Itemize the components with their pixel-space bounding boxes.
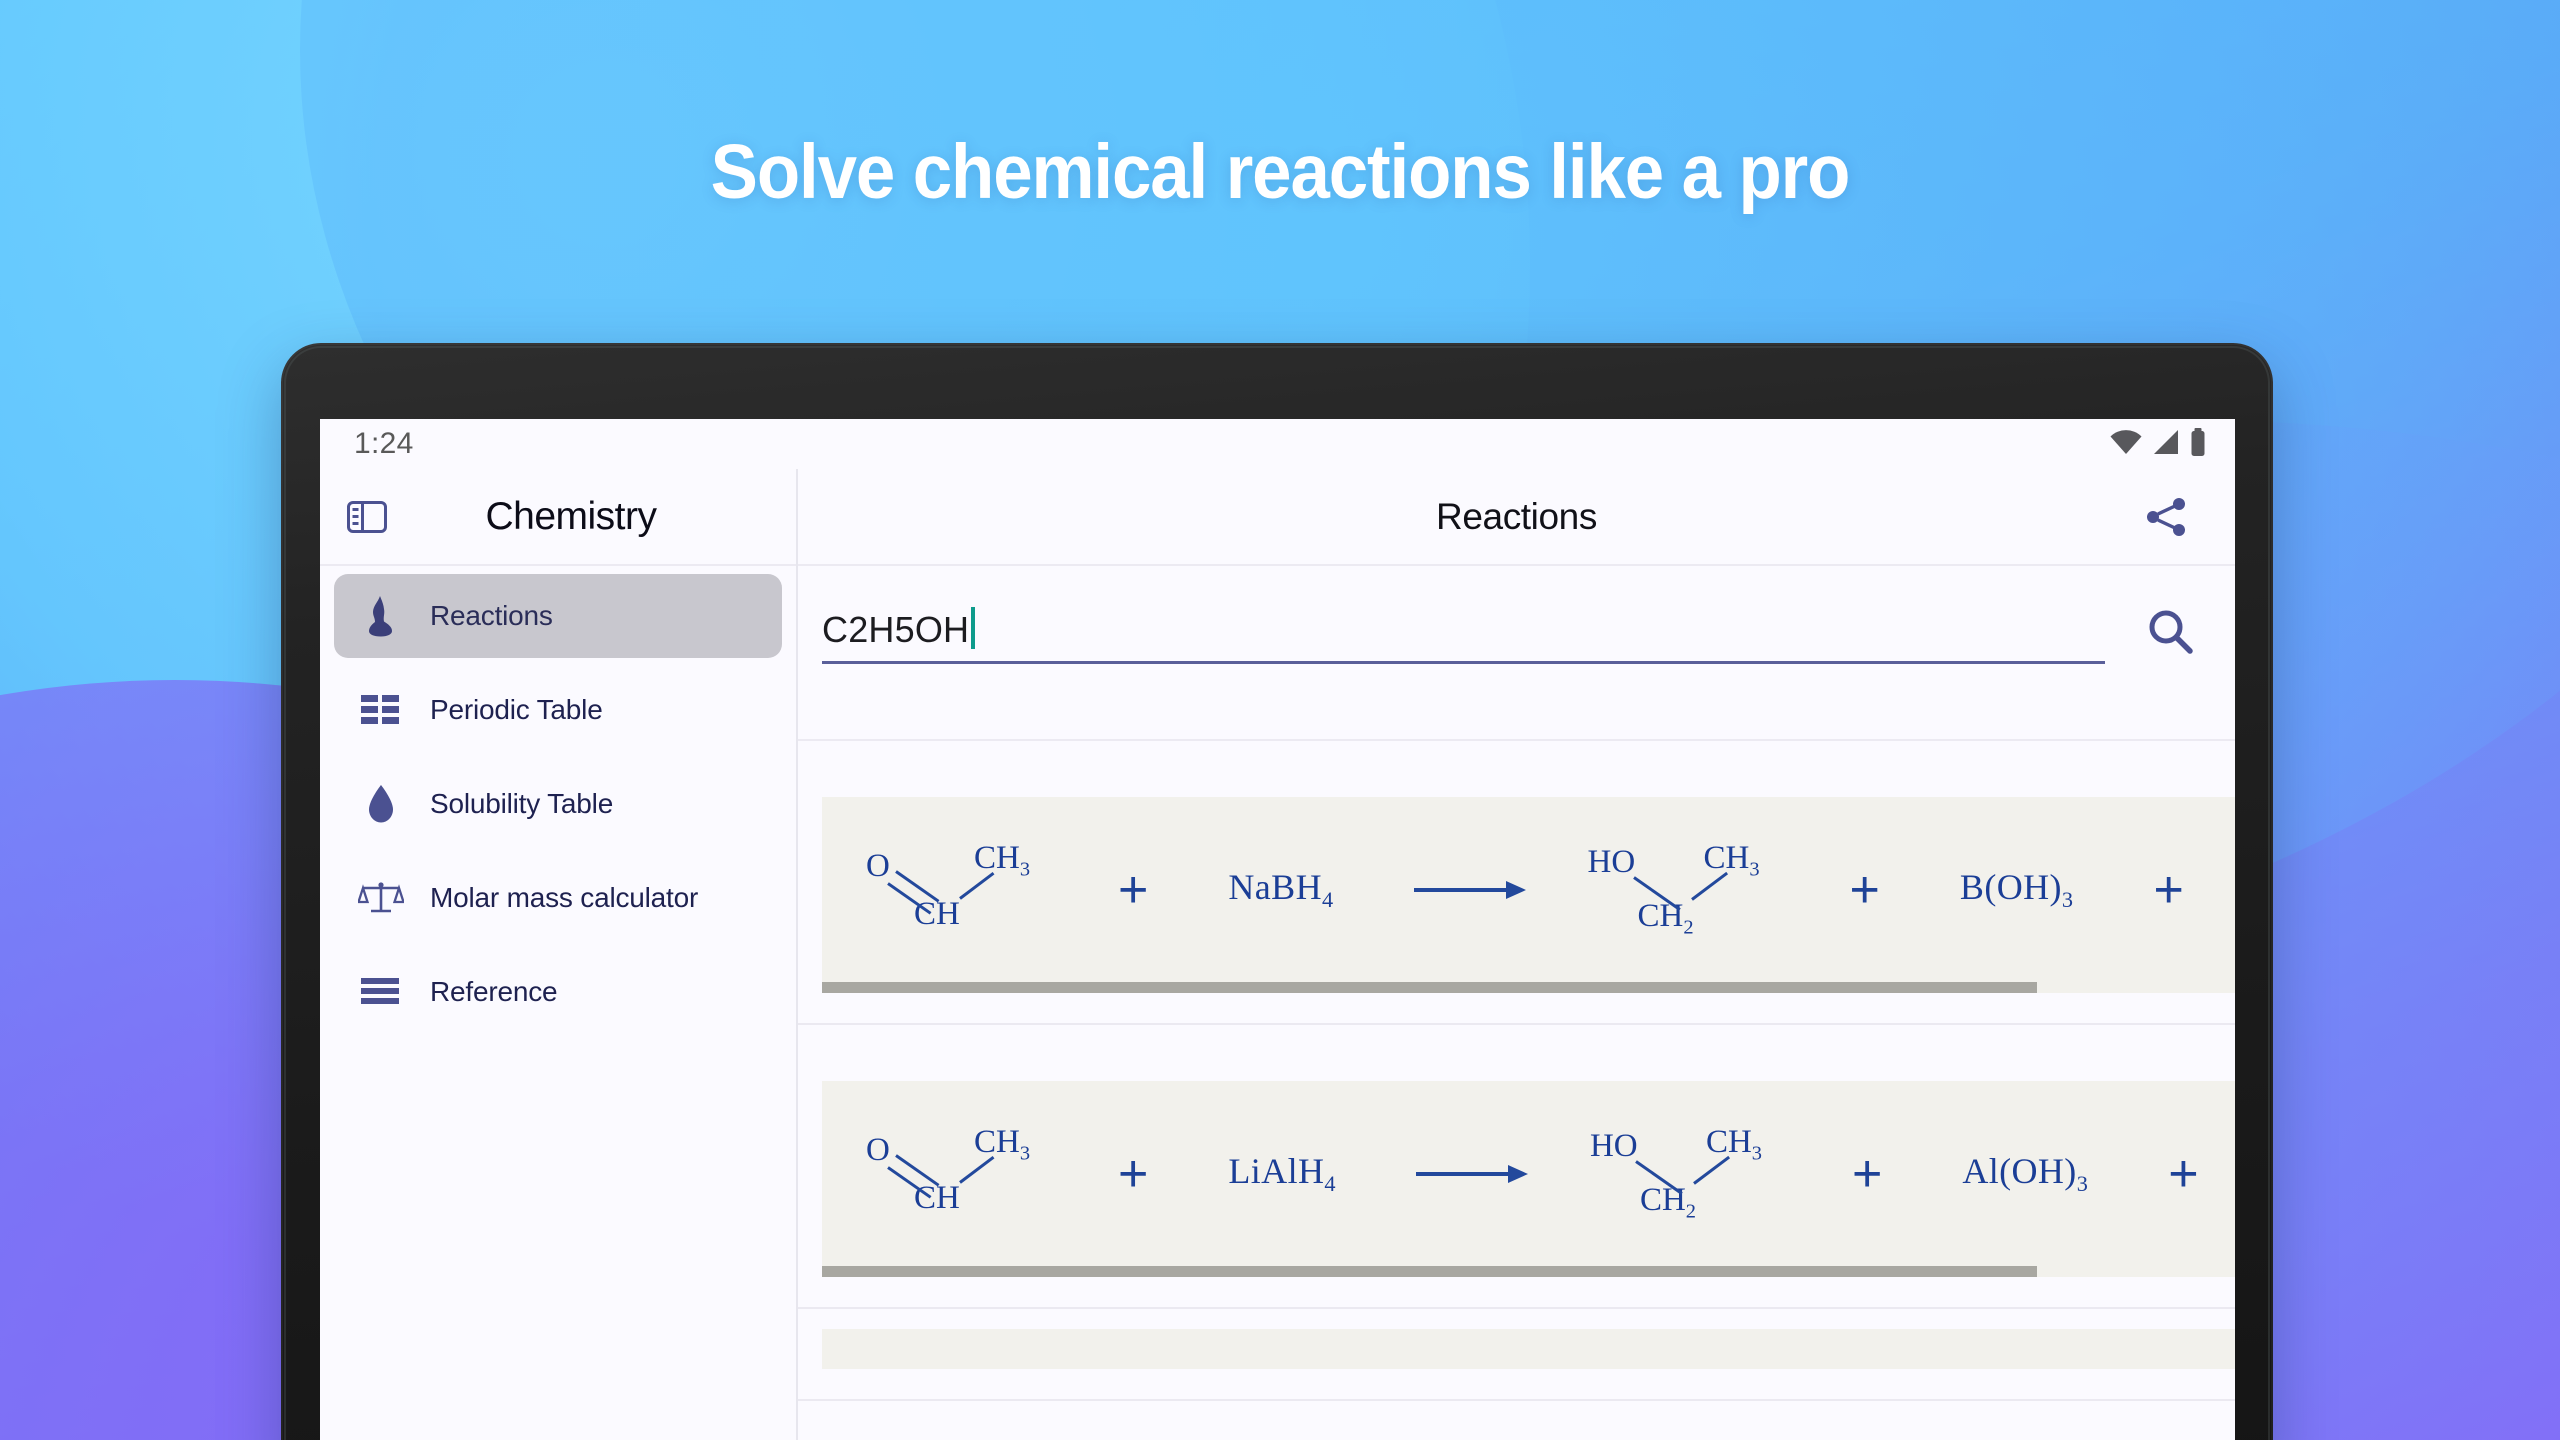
status-icons bbox=[2109, 428, 2207, 461]
flask-drop-icon bbox=[358, 595, 404, 637]
sidebar-item-reactions[interactable]: Reactions bbox=[334, 574, 782, 658]
tablet-device-frame: 1:24 bbox=[281, 343, 2273, 1440]
sidebar-item-periodic-table[interactable]: Periodic Table bbox=[334, 668, 782, 752]
search-input[interactable]: C2H5OH bbox=[822, 607, 2105, 664]
atom-label: O bbox=[866, 1132, 890, 1169]
reaction-equation: O CH CH3 + LiAlH4 bbox=[866, 1081, 2235, 1266]
sidebar-item-list: Reactions bbox=[320, 566, 796, 1044]
share-icon[interactable] bbox=[2137, 488, 2195, 546]
sidebar-item-label: Reference bbox=[430, 976, 557, 1008]
plus-sign: + bbox=[2168, 1144, 2198, 1204]
reaction-arrow-icon bbox=[1416, 1161, 1528, 1187]
sidebar-item-label: Periodic Table bbox=[430, 694, 603, 726]
atom-label: CH2 bbox=[1638, 898, 1694, 940]
page-title: Reactions bbox=[798, 496, 2235, 538]
navigation-sidebar: Chemistry Reactions bbox=[320, 469, 798, 1440]
atom-label: CH3 bbox=[1706, 1124, 1762, 1166]
plus-sign: + bbox=[1850, 860, 1880, 920]
sidebar-header: Chemistry bbox=[320, 469, 796, 566]
reaction-row[interactable] bbox=[798, 1309, 2235, 1401]
product-formula: B(OH)3 bbox=[1960, 866, 2074, 913]
main-content: Reactions C2H5OH bbox=[798, 469, 2235, 1440]
atom-label: O bbox=[866, 848, 890, 885]
plus-sign: + bbox=[1118, 860, 1148, 920]
sidebar-item-reference[interactable]: Reference bbox=[334, 950, 782, 1034]
reagent-formula: NaBH4 bbox=[1228, 866, 1333, 913]
status-bar: 1:24 bbox=[320, 419, 2235, 469]
reaction-results-list: O CH CH3 + NaBH4 bbox=[798, 741, 2235, 1440]
atom-label: CH2 bbox=[1640, 1182, 1696, 1224]
scrollbar-thumb[interactable] bbox=[822, 982, 2037, 993]
atom-label: CH3 bbox=[974, 1124, 1030, 1166]
text-caret bbox=[971, 607, 975, 649]
sidebar-item-label: Reactions bbox=[430, 600, 553, 632]
molecule-acetaldehyde: O CH CH3 bbox=[866, 1124, 1056, 1224]
atom-label: CH3 bbox=[974, 840, 1030, 882]
molecule-ethanol: HO CH2 CH3 bbox=[1590, 1124, 1790, 1224]
scrollbar-thumb[interactable] bbox=[822, 1266, 2037, 1277]
reaction-equation-card[interactable]: O CH CH3 + LiAlH4 bbox=[822, 1081, 2235, 1266]
atom-label: HO bbox=[1588, 844, 1636, 881]
horizontal-scrollbar[interactable] bbox=[822, 1266, 2235, 1277]
promo-headline: Solve chemical reactions like a pro bbox=[102, 128, 2457, 217]
horizontal-scrollbar[interactable] bbox=[822, 982, 2235, 993]
sidebar-item-molar-mass-calculator[interactable]: Molar mass calculator bbox=[334, 856, 782, 940]
reaction-equation-card[interactable] bbox=[822, 1329, 2235, 1369]
battery-icon bbox=[2189, 428, 2207, 461]
atom-label: CH3 bbox=[1704, 840, 1760, 882]
product-formula: Al(OH)3 bbox=[1962, 1150, 2088, 1197]
atom-label: HO bbox=[1590, 1128, 1638, 1165]
search-area: C2H5OH bbox=[798, 566, 2235, 741]
sidebar-item-label: Molar mass calculator bbox=[430, 882, 698, 914]
magnifier-icon[interactable] bbox=[2139, 600, 2203, 664]
reaction-equation-card[interactable]: O CH CH3 + NaBH4 bbox=[822, 797, 2235, 982]
sidebar-panel-icon[interactable] bbox=[344, 494, 390, 540]
sidebar-item-solubility-table[interactable]: Solubility Table bbox=[334, 762, 782, 846]
molecule-ethanol: HO CH2 CH3 bbox=[1588, 840, 1788, 940]
plus-sign: + bbox=[1852, 1144, 1882, 1204]
status-clock: 1:24 bbox=[354, 427, 414, 461]
device-screen: 1:24 bbox=[320, 419, 2235, 1440]
list-lines-icon bbox=[358, 977, 404, 1007]
molecule-acetaldehyde: O CH CH3 bbox=[866, 840, 1056, 940]
screen-body: Chemistry Reactions bbox=[320, 469, 2235, 1440]
balance-scale-icon bbox=[358, 880, 404, 916]
reagent-formula: LiAlH4 bbox=[1228, 1150, 1336, 1197]
plus-sign: + bbox=[1118, 1144, 1148, 1204]
app-bar: Reactions bbox=[798, 469, 2235, 566]
search-row: C2H5OH bbox=[798, 600, 2235, 664]
reaction-row[interactable]: O CH CH3 + LiAlH4 bbox=[798, 1025, 2235, 1309]
wifi-icon bbox=[2109, 429, 2143, 460]
reaction-row[interactable]: O CH CH3 + NaBH4 bbox=[798, 741, 2235, 1025]
cellular-signal-icon bbox=[2152, 429, 2180, 460]
app-title: Chemistry bbox=[390, 495, 796, 539]
grid-blocks-icon bbox=[358, 694, 404, 726]
reaction-equation: O CH CH3 + NaBH4 bbox=[866, 797, 2235, 982]
search-input-value: C2H5OH bbox=[822, 609, 969, 651]
plus-sign: + bbox=[2153, 860, 2183, 920]
sidebar-item-label: Solubility Table bbox=[430, 788, 613, 820]
water-drop-icon bbox=[358, 784, 404, 824]
reaction-arrow-icon bbox=[1414, 877, 1526, 903]
